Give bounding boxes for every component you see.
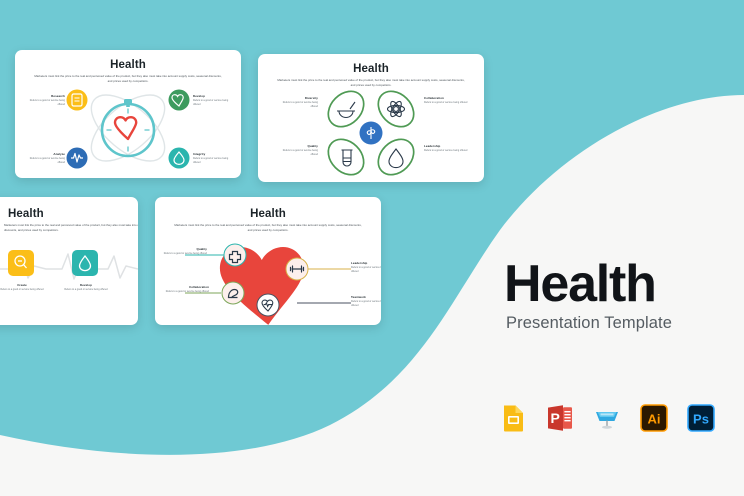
badge-top-left xyxy=(67,90,88,111)
slide2-item-2[interactable]: Quality Refers to a good or service bein… xyxy=(276,144,318,156)
item-label: Create xyxy=(0,283,48,287)
item-desc: Refers to a good or service being offere… xyxy=(424,101,468,105)
slide2-item-0[interactable]: Diversity Refers to a good or service be… xyxy=(276,96,318,108)
slide2-item-3[interactable]: Leadership Refers to a good or service b… xyxy=(424,144,468,153)
slide3-item-0[interactable]: Create Refers to a good or service being… xyxy=(0,283,48,292)
item-desc: Refers to a good or service being offere… xyxy=(0,288,48,292)
item-desc: Refers to a good or service being offere… xyxy=(25,99,65,106)
item-desc: Refers to a good or service being offere… xyxy=(193,157,233,164)
slide-body-text: Marketers must link the price to the rea… xyxy=(4,223,138,232)
item-label: Collaboration xyxy=(161,285,209,289)
keynote-icon[interactable] xyxy=(593,404,621,432)
slide4-item-3[interactable]: Teamwork Refers to a good or service bei… xyxy=(351,295,381,307)
slide3-item-1-icon[interactable] xyxy=(72,250,98,281)
poster-canvas: Health Marketers must link the price to … xyxy=(0,0,744,496)
slide2-graphic xyxy=(258,80,484,180)
google-slides-icon[interactable] xyxy=(499,404,527,432)
slide1-item-1[interactable]: Develop Refers to a good or service bein… xyxy=(193,94,233,106)
item-label: Develop xyxy=(60,283,112,287)
mortar-pestle-icon xyxy=(337,102,355,118)
slide-card-4[interactable]: Health Marketers must link the price to … xyxy=(155,197,381,325)
slide2-item-1[interactable]: Collaboration Refers to a good or servic… xyxy=(424,96,468,105)
item-label: Collaboration xyxy=(424,96,468,100)
slide4-graphic xyxy=(155,225,381,325)
item-desc: Refers to a good or service being offere… xyxy=(193,99,233,106)
slide-card-3[interactable]: Health Marketers must link the price to … xyxy=(0,197,138,325)
callout-teamwork xyxy=(257,294,279,316)
app-format-icons: P Ai Ps xyxy=(499,404,715,432)
slide3-item-0-icon[interactable] xyxy=(8,250,34,281)
slide4-item-2[interactable]: Leadership Refers to a good or service b… xyxy=(351,261,381,273)
photoshop-icon[interactable]: Ps xyxy=(687,404,715,432)
slide-title: Health xyxy=(258,63,484,75)
item-label: Leadership xyxy=(424,144,468,148)
badge-bottom-left xyxy=(67,148,88,169)
badge-bottom-right xyxy=(169,148,190,169)
item-desc: Refers to a good or service being offere… xyxy=(424,149,468,153)
slide-title: Health xyxy=(155,208,381,220)
slide4-item-0[interactable]: Quality Refers to a good or service bein… xyxy=(163,247,207,256)
item-label: Analyze xyxy=(25,152,65,156)
page-title: Health xyxy=(504,258,656,310)
slide1-item-3[interactable]: Integrity Refers to a good or service be… xyxy=(193,152,233,164)
droplet-icon xyxy=(389,149,403,168)
callout-leadership xyxy=(286,258,308,280)
item-label: Teamwork xyxy=(351,295,381,299)
item-desc: Refers to a good or service being offere… xyxy=(351,300,381,307)
slide1-item-0[interactable]: Research Refers to a good or service bei… xyxy=(25,94,65,106)
item-label: Research xyxy=(25,94,65,98)
slide1-item-2[interactable]: Analyze Refers to a good or service bein… xyxy=(25,152,65,164)
slide-title: Health xyxy=(0,208,138,220)
illustrator-glyph: Ai xyxy=(648,412,661,427)
item-label: Quality xyxy=(163,247,207,251)
photoshop-glyph: Ps xyxy=(693,412,709,427)
slide3-item-1[interactable]: Develop Refers to a good or service bein… xyxy=(60,283,112,292)
badge-top-right xyxy=(169,90,190,111)
item-label: Diversity xyxy=(276,96,318,100)
item-label: Leadership xyxy=(351,261,381,265)
item-desc: Refers to a good or service being offere… xyxy=(161,290,209,294)
atom-icon xyxy=(388,100,405,118)
item-desc: Refers to a good or service being offere… xyxy=(351,266,381,273)
page-subtitle: Presentation Template xyxy=(506,314,672,333)
slide4-item-1[interactable]: Collaboration Refers to a good or servic… xyxy=(161,285,209,294)
slide-card-2[interactable]: Health Marketers must link the price to … xyxy=(258,54,484,182)
item-label: Quality xyxy=(276,144,318,148)
powerpoint-icon[interactable]: P xyxy=(546,404,574,432)
callout-collaboration xyxy=(222,282,244,304)
slide-title: Health xyxy=(15,59,241,71)
item-desc: Refers to a good or service being offere… xyxy=(25,157,65,164)
item-desc: Refers to a good or service being offere… xyxy=(276,149,318,156)
item-desc: Refers to a good or service being offere… xyxy=(163,252,207,256)
callout-quality xyxy=(224,244,246,266)
item-desc: Refers to a good or service being offere… xyxy=(60,288,112,292)
illustrator-icon[interactable]: Ai xyxy=(640,404,668,432)
item-label: Integrity xyxy=(193,152,233,156)
slide-card-1[interactable]: Health Marketers must link the price to … xyxy=(15,50,241,178)
powerpoint-glyph: P xyxy=(551,410,560,426)
item-desc: Refers to a good or service being offere… xyxy=(276,101,318,108)
test-tube-icon xyxy=(342,150,353,166)
item-label: Develop xyxy=(193,94,233,98)
